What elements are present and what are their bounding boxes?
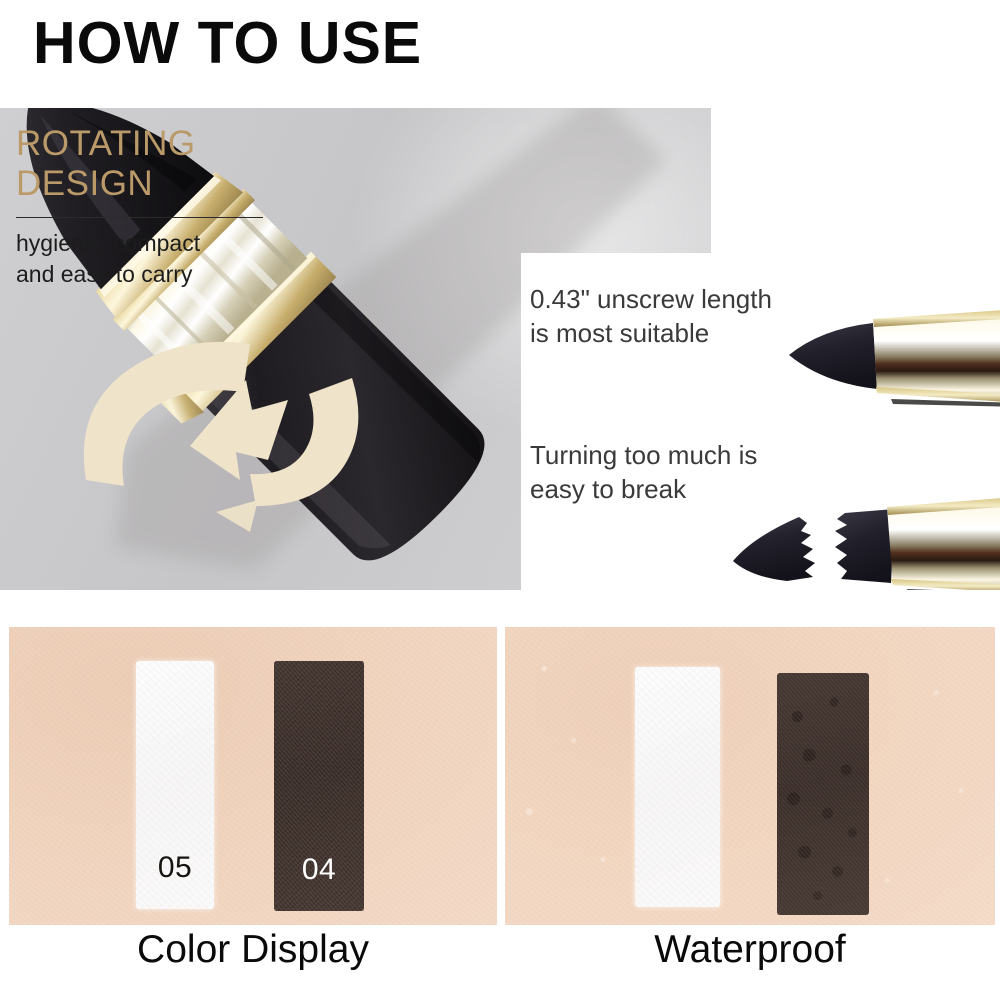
over-turning-note-line1: Turning too much is <box>530 438 757 472</box>
water-droplets <box>505 627 995 925</box>
skin-texture <box>9 627 497 925</box>
swatch-dark-wet <box>777 673 869 915</box>
swatch-white-wet <box>635 667 720 907</box>
caption-waterproof: Waterproof <box>505 930 995 969</box>
unscrew-length-note-line2: is most suitable <box>530 316 772 350</box>
swatch-texture <box>777 673 869 915</box>
rotating-design-subtext-line2: and easy to carry <box>16 259 200 290</box>
intact-pencil-illustration <box>781 299 1000 409</box>
swatch-texture <box>635 667 720 907</box>
unscrew-length-note: 0.43" unscrew length is most suitable <box>530 282 772 351</box>
swatch-05-label: 05 <box>136 853 214 883</box>
over-turning-note-line2: easy to break <box>530 472 757 506</box>
instructions-panel: 0.43" unscrew length is most suitable Tu… <box>521 253 1000 590</box>
rotating-design-subtext: hygienic, compact and easy to carry <box>16 228 200 289</box>
rotating-design-heading-line1: ROTATING <box>16 124 196 164</box>
waterproof-photo <box>505 627 995 925</box>
swatch-04-label: 04 <box>274 855 364 885</box>
heading-divider <box>16 217 263 218</box>
caption-color-display: Color Display <box>9 930 497 969</box>
swatch-05: 05 <box>136 661 214 909</box>
color-display-photo: 05 04 <box>9 627 497 925</box>
broken-pencil-illustration <box>727 489 1000 590</box>
rotating-design-subtext-line1: hygienic, compact <box>16 228 200 259</box>
over-turning-note: Turning too much is easy to break <box>530 438 757 507</box>
unscrew-length-note-line1: 0.43" unscrew length <box>530 282 772 316</box>
rotation-arrow-icon <box>84 342 359 532</box>
page-title: HOW TO USE <box>33 14 422 73</box>
swatch-04: 04 <box>274 661 364 911</box>
rotating-design-heading: ROTATING DESIGN <box>16 124 196 203</box>
rotating-design-heading-line2: DESIGN <box>16 164 196 204</box>
